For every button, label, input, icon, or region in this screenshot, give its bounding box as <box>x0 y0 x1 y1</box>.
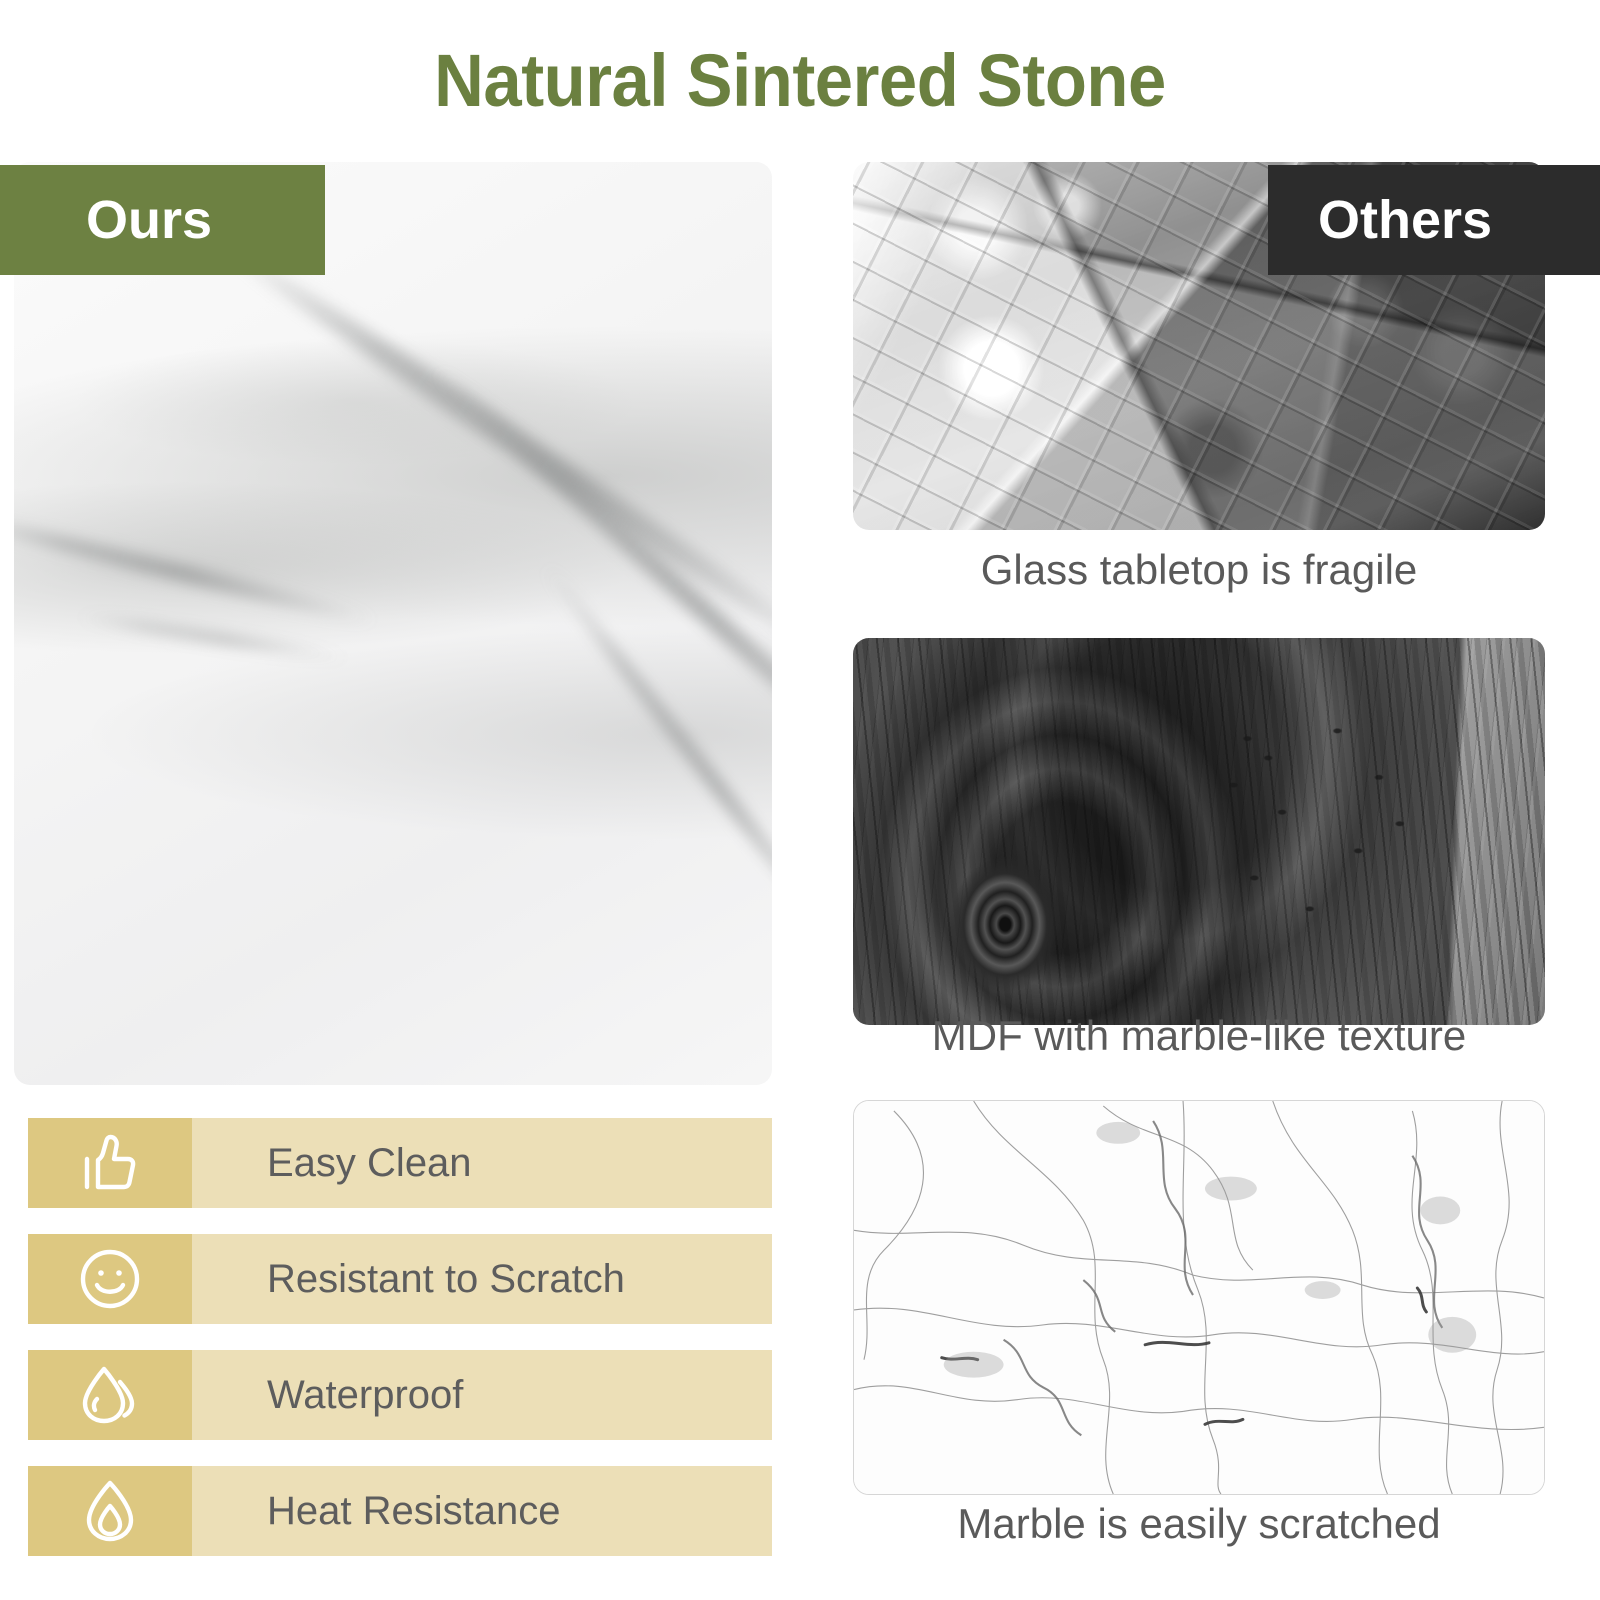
feature-row[interactable]: Heat Resistance <box>28 1466 772 1556</box>
flame-icon <box>28 1466 192 1556</box>
page-title: Natural Sintered Stone <box>56 38 1544 123</box>
stone-vein <box>14 510 380 630</box>
white-marble-photo <box>853 1100 1545 1495</box>
feature-row[interactable]: Resistant to Scratch <box>28 1234 772 1324</box>
ours-badge-label: Ours <box>86 189 212 251</box>
stone-vein <box>538 560 772 978</box>
others-badge-label: Others <box>1318 189 1492 251</box>
feature-label: Waterproof <box>267 1373 463 1418</box>
water-drop-icon <box>28 1350 192 1440</box>
ours-badge: Ours <box>0 165 325 275</box>
stone-vein <box>212 232 772 679</box>
feature-label-cell: Easy Clean <box>192 1118 772 1208</box>
feature-label-cell: Resistant to Scratch <box>192 1234 772 1324</box>
feature-label-cell: Waterproof <box>192 1350 772 1440</box>
ours-sintered-stone-panel <box>14 162 772 1085</box>
feature-label: Easy Clean <box>267 1141 472 1186</box>
wood-grain-texture <box>853 638 1545 1025</box>
wood-grain-mdf-photo <box>853 638 1545 1025</box>
stone-vein <box>75 610 353 665</box>
feature-row[interactable]: Waterproof <box>28 1350 772 1440</box>
thumbs-up-icon <box>28 1118 192 1208</box>
wood-grain-mdf-caption: MDF with marble-like texture <box>853 1012 1545 1060</box>
white-marble-texture <box>854 1101 1544 1494</box>
feature-row[interactable]: Easy Clean <box>28 1118 772 1208</box>
white-marble-caption: Marble is easily scratched <box>853 1500 1545 1548</box>
feature-label-cell: Heat Resistance <box>192 1466 772 1556</box>
feature-list: Easy Clean Resistant to Scratch Waterpro… <box>28 1118 772 1582</box>
others-badge: Others <box>1268 165 1600 275</box>
broken-glass-caption: Glass tabletop is fragile <box>853 546 1545 594</box>
feature-label: Heat Resistance <box>267 1489 560 1534</box>
feature-label: Resistant to Scratch <box>267 1257 625 1302</box>
smiley-face-icon <box>28 1234 192 1324</box>
